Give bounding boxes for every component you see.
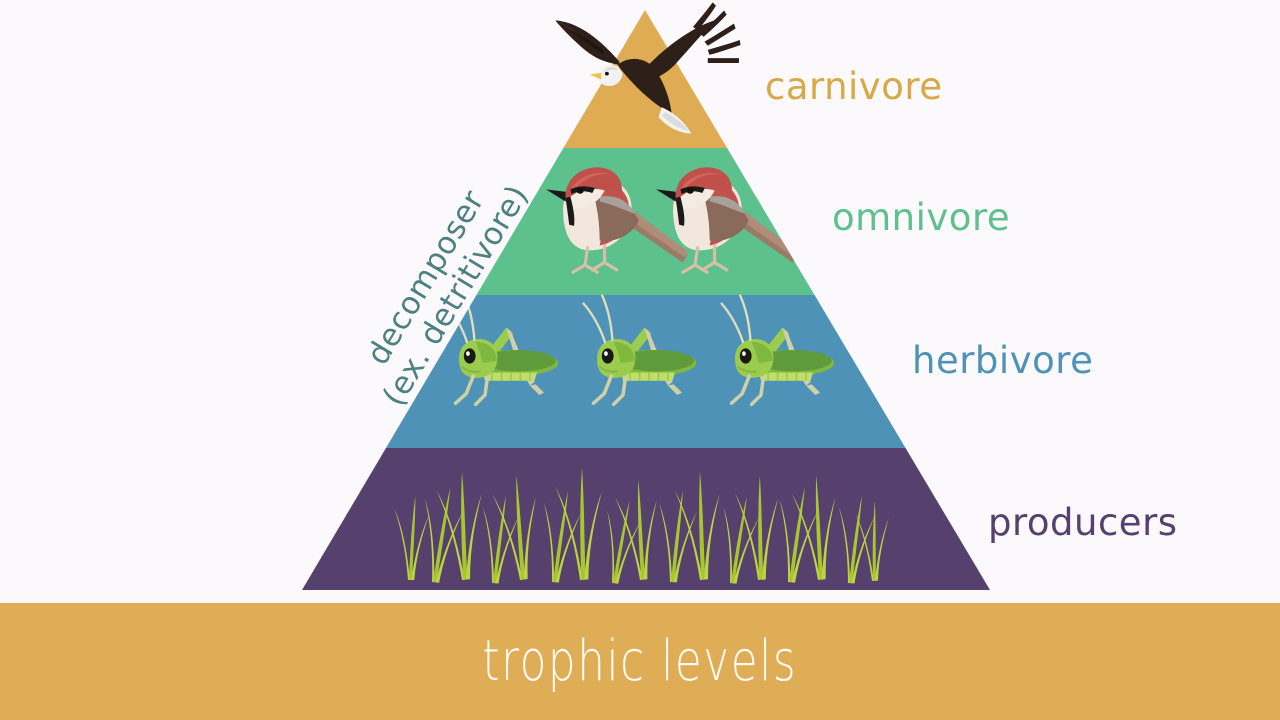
level-label-herbivore: herbivore xyxy=(912,342,1093,379)
level-label-producers: producers xyxy=(988,504,1178,541)
level-label-omnivore: omnivore xyxy=(832,199,1010,236)
level-label-carnivore: carnivore xyxy=(765,68,943,105)
trophic-levels-diagram: carnivore omnivore herbivore producers d… xyxy=(0,0,1280,720)
banner-title: trophic levels xyxy=(483,629,798,694)
title-banner: trophic levels xyxy=(0,603,1280,720)
